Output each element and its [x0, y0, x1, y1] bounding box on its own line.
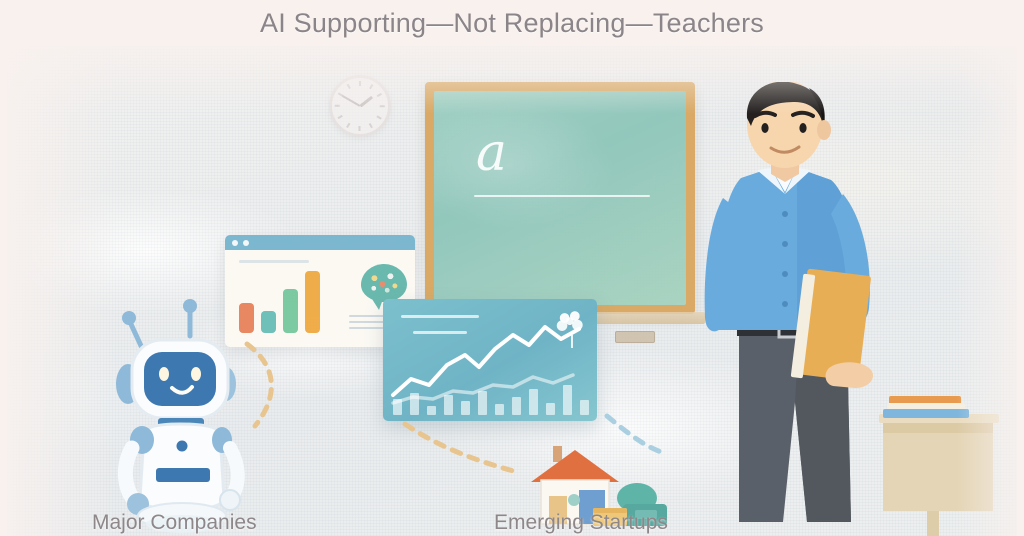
caption-major-companies: Major Companies [92, 511, 257, 535]
browser-dot-2 [243, 240, 249, 246]
placeholder-heading-line [239, 260, 309, 263]
chalkboard-underline [474, 195, 650, 197]
page-title-bar: AI Supporting—Not Replacing—Teachers [0, 0, 1024, 46]
dashboard-bottom-bars [393, 385, 589, 415]
ai-robot-mascot [102, 292, 272, 536]
illustration-page: AI Supporting—Not Replacing—Teachers a [0, 0, 1024, 536]
caption-emerging-startups: Emerging Startups [494, 511, 668, 535]
browser-dot-1 [232, 240, 238, 246]
chalkboard-letter: a [476, 127, 507, 179]
network-nodes-icon [368, 271, 400, 295]
illustration-scene: a [7, 44, 1017, 536]
clock-hour-hand [359, 96, 372, 107]
speech-bubble-icon [361, 264, 407, 302]
bar-4 [305, 271, 320, 333]
page-title: AI Supporting—Not Replacing—Teachers [260, 8, 764, 39]
browser-title-bar [225, 235, 415, 250]
teacher-figure [679, 82, 919, 536]
wall-clock-icon [329, 75, 391, 137]
chalk-eraser-icon [615, 331, 655, 343]
bar-3 [283, 289, 298, 333]
clock-minute-hand [341, 95, 360, 107]
brain-stem [571, 335, 573, 348]
chalkboard: a [425, 82, 695, 314]
ai-analytics-dashboard[interactable] [383, 299, 597, 421]
